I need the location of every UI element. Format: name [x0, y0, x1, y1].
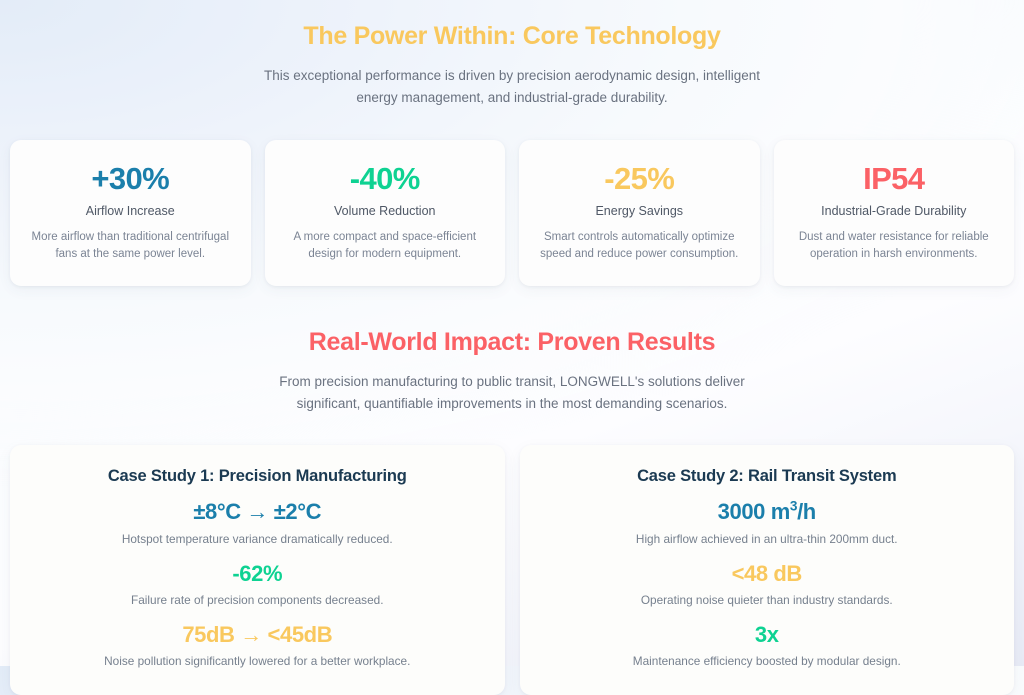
metric-maintenance-efficiency: 3x Maintenance efficiency boosted by mod…: [536, 622, 999, 669]
stat-description: Dust and water resistance for reliable o…: [788, 229, 1001, 262]
stat-value: -25%: [533, 162, 746, 195]
stat-value: +30%: [24, 162, 237, 195]
real-world-impact-subtitle: From precision manufacturing to public t…: [257, 371, 767, 415]
metric-failure-rate: -62% Failure rate of precision component…: [26, 561, 489, 608]
core-technology-title: The Power Within: Core Technology: [0, 22, 1024, 51]
stat-card-volume-reduction[interactable]: -40% Volume Reduction A more compact and…: [265, 140, 506, 286]
stat-description: More airflow than traditional centrifuga…: [24, 229, 237, 262]
stat-description: Smart controls automatically optimize sp…: [533, 229, 746, 262]
case-study-card-precision-manufacturing[interactable]: Case Study 1: Precision Manufacturing ±8…: [10, 445, 505, 695]
metric-description: Hotspot temperature variance dramaticall…: [26, 531, 489, 547]
metric-noise-reduction: 75dB → <45dB Noise pollution significant…: [26, 622, 489, 669]
metric-description: Maintenance efficiency boosted by modula…: [536, 653, 999, 669]
stat-card-airflow-increase[interactable]: +30% Airflow Increase More airflow than …: [10, 140, 251, 286]
case-study-title: Case Study 1: Precision Manufacturing: [26, 467, 489, 486]
stat-description: A more compact and space-efficient desig…: [279, 229, 492, 262]
metric-temperature-variance: ±8°C → ±2°C Hotspot temperature variance…: [26, 499, 489, 546]
metric-value: <48 dB: [536, 561, 999, 586]
metric-airflow-volume: 3000 m3/h High airflow achieved in an ul…: [536, 499, 999, 546]
real-world-impact-header: Real-World Impact: Proven Results From p…: [0, 286, 1024, 415]
stat-card-energy-savings[interactable]: -25% Energy Savings Smart controls autom…: [519, 140, 760, 286]
metric-value: 75dB → <45dB: [26, 622, 489, 647]
case-studies-row: Case Study 1: Precision Manufacturing ±8…: [0, 445, 1024, 695]
stat-card-industrial-durability[interactable]: IP54 Industrial-Grade Durability Dust an…: [774, 140, 1015, 286]
stat-label: Industrial-Grade Durability: [788, 204, 1001, 218]
metric-description: Failure rate of precision components dec…: [26, 592, 489, 608]
stat-label: Volume Reduction: [279, 204, 492, 218]
stat-label: Airflow Increase: [24, 204, 237, 218]
core-technology-header: The Power Within: Core Technology This e…: [0, 0, 1024, 109]
stat-value: -40%: [279, 162, 492, 195]
metric-description: Noise pollution significantly lowered fo…: [26, 653, 489, 669]
metric-value: ±8°C → ±2°C: [26, 499, 489, 524]
stat-value: IP54: [788, 162, 1001, 195]
page-root: The Power Within: Core Technology This e…: [0, 0, 1024, 666]
metric-description: Operating noise quieter than industry st…: [536, 592, 999, 608]
case-study-title: Case Study 2: Rail Transit System: [536, 467, 999, 486]
metric-description: High airflow achieved in an ultra-thin 2…: [536, 531, 999, 547]
metric-value: 3000 m3/h: [536, 499, 999, 524]
real-world-impact-title: Real-World Impact: Proven Results: [0, 328, 1024, 357]
case-study-card-rail-transit[interactable]: Case Study 2: Rail Transit System 3000 m…: [520, 445, 1015, 695]
stat-cards-row: +30% Airflow Increase More airflow than …: [0, 140, 1024, 286]
metric-value: 3x: [536, 622, 999, 647]
metric-operating-noise: <48 dB Operating noise quieter than indu…: [536, 561, 999, 608]
core-technology-subtitle: This exceptional performance is driven b…: [257, 65, 767, 109]
metric-value: -62%: [26, 561, 489, 586]
stat-label: Energy Savings: [533, 204, 746, 218]
